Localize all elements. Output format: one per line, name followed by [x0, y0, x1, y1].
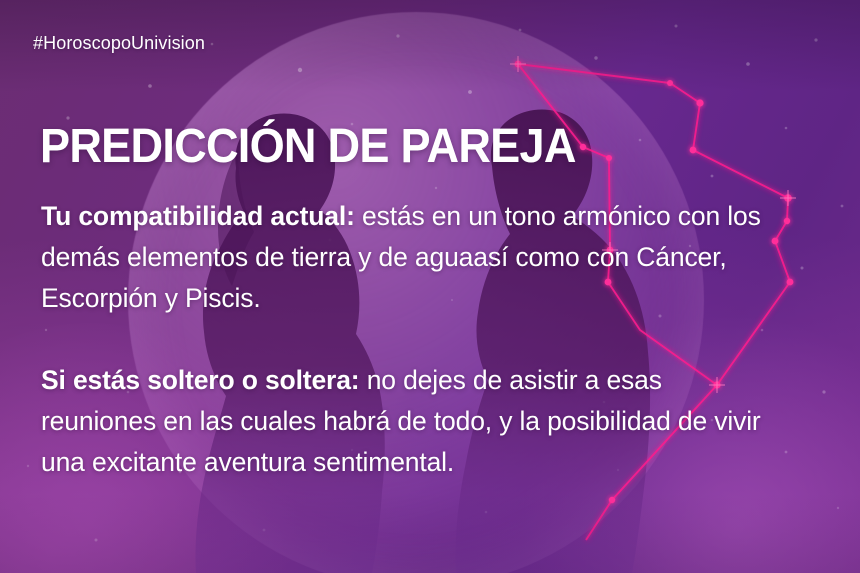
paragraph-single-lead: Si estás soltero o soltera: — [41, 365, 359, 395]
paragraph-compatibility-lead: Tu compatibilidad actual: — [41, 201, 355, 231]
text-content: #HoroscopoUnivision PREDICCIÓN DE PAREJA… — [0, 0, 860, 573]
body-copy: Tu compatibilidad actual: estás en un to… — [41, 196, 781, 483]
paragraph-single: Si estás soltero o soltera: no dejes de … — [41, 360, 781, 483]
horoscope-card: #HoroscopoUnivision PREDICCIÓN DE PAREJA… — [0, 0, 860, 573]
paragraph-compatibility: Tu compatibilidad actual: estás en un to… — [41, 196, 781, 319]
page-title: PREDICCIÓN DE PAREJA — [40, 122, 576, 172]
hashtag-label: #HoroscopoUnivision — [33, 33, 205, 54]
